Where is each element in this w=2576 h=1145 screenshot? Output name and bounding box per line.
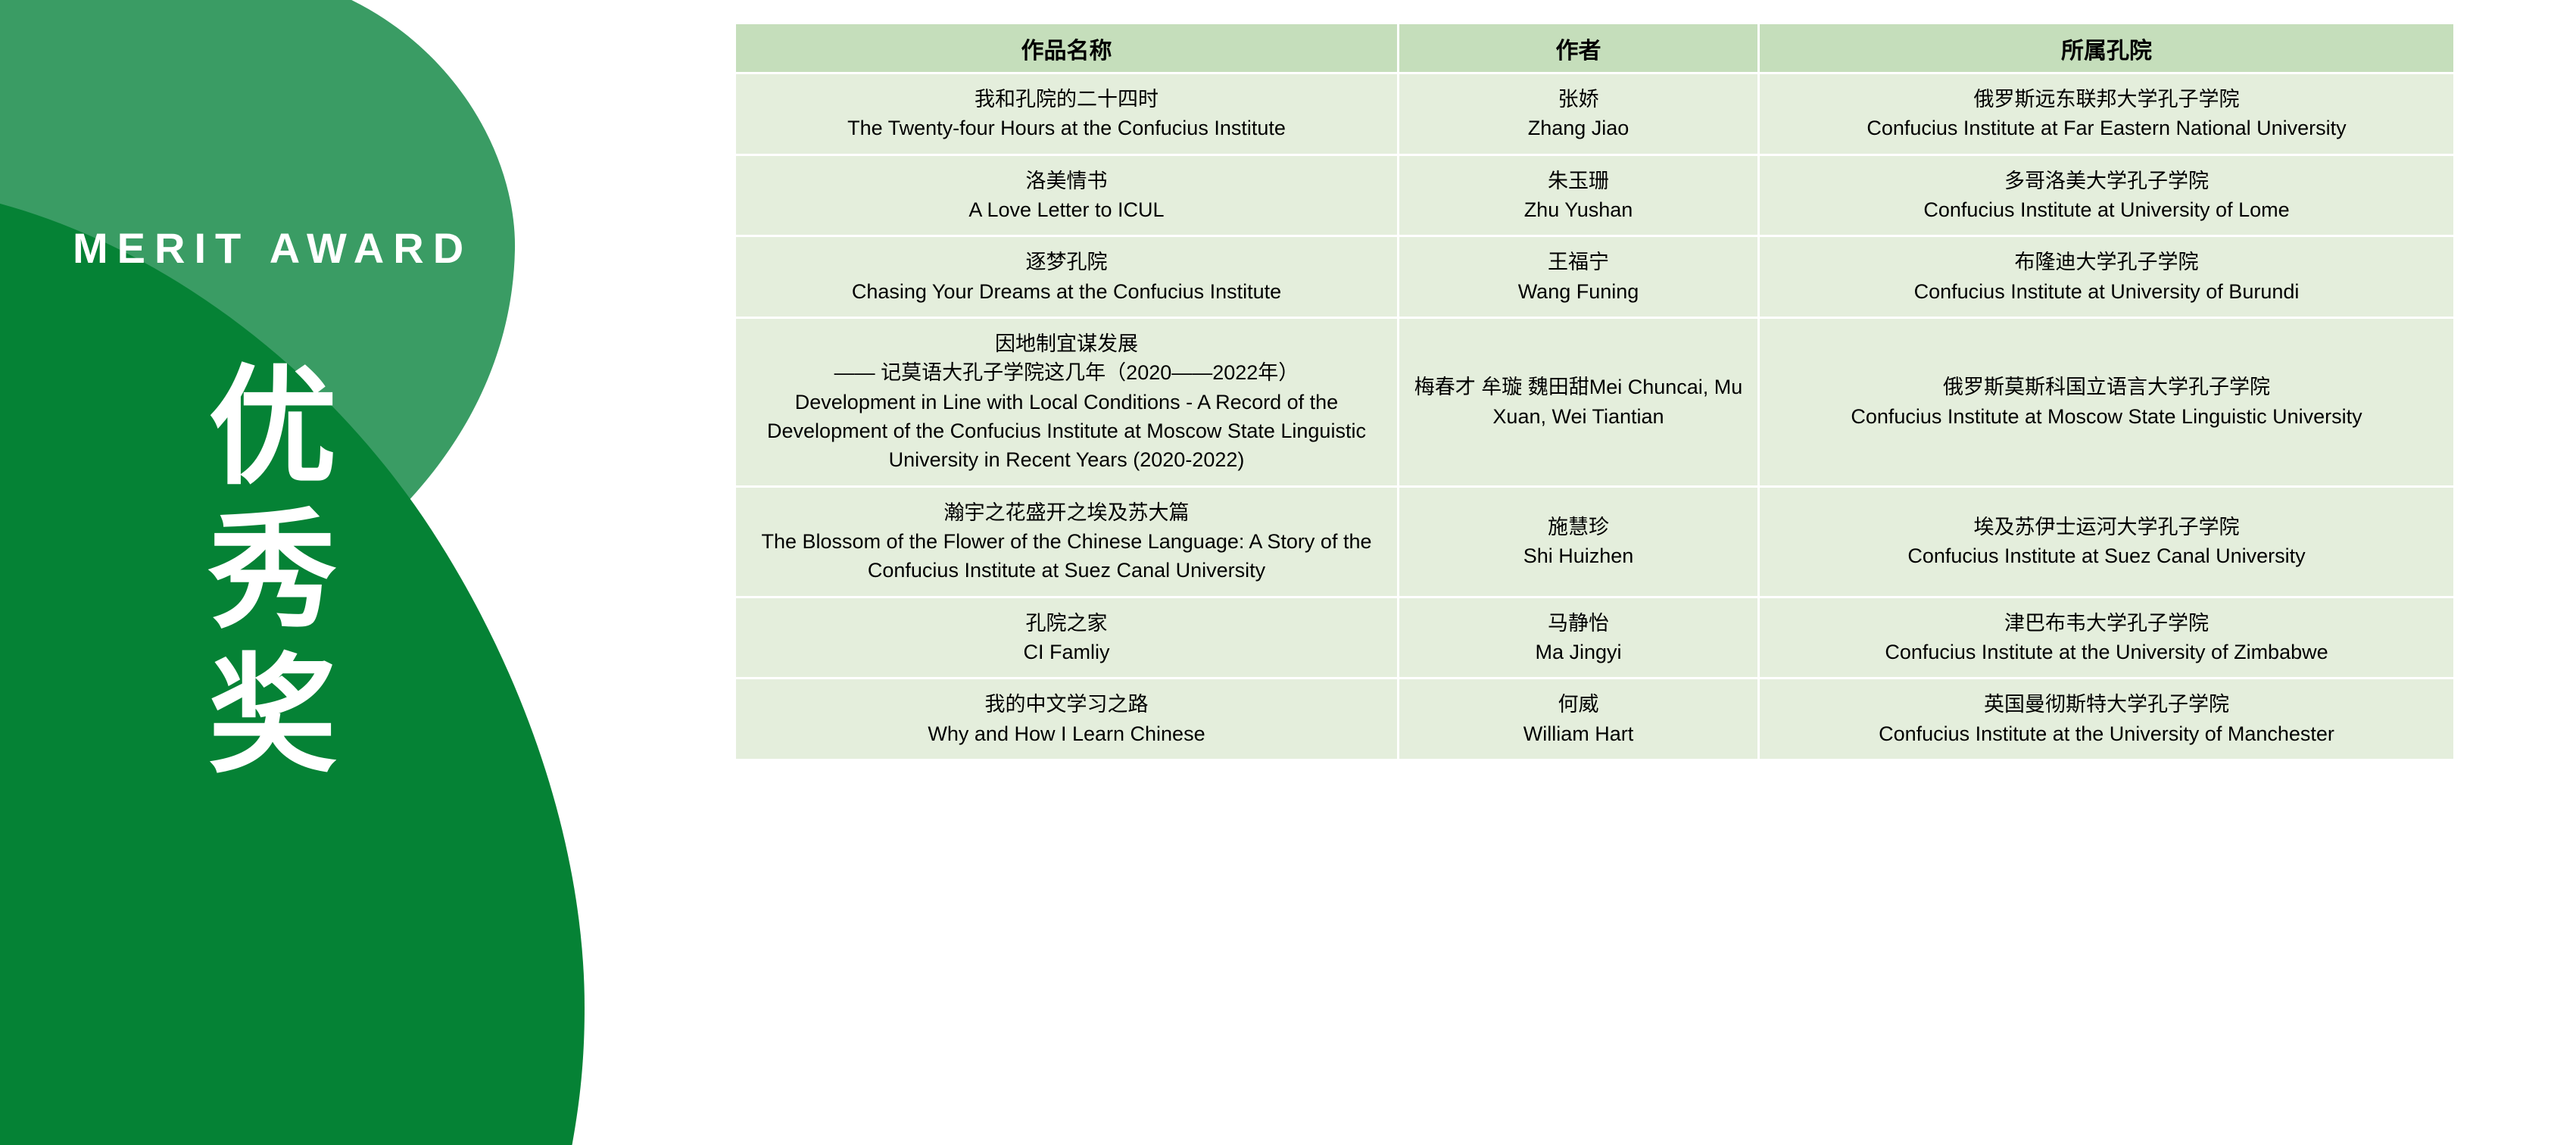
table-row: 孔院之家 CI Famliy 马静怡 Ma Jingyi 津巴布韦大学孔子学院 …: [736, 598, 2453, 680]
author-english: Zhang Jiao: [1411, 114, 1745, 142]
merit-award-banner: MERIT AWARD 优 秀 奖: [0, 0, 681, 1145]
cell-author: 王福宁 Wang Funing: [1399, 237, 1760, 319]
award-winners-table: 作品名称 作者 所属孔院 我和孔院的二十四时 The Twenty-four H…: [736, 24, 2453, 759]
title-english: CI Famliy: [748, 638, 1385, 666]
cell-author: 张娇 Zhang Jiao: [1399, 74, 1760, 156]
title-chinese: 因地制宜谋发展 —— 记莫语大孔子学院这几年（2020——2022年）: [748, 329, 1385, 388]
title-chinese: 孔院之家: [748, 609, 1385, 638]
cell-author: 梅春才 牟璇 魏田甜Mei Chuncai, Mu Xuan, Wei Tian…: [1399, 319, 1760, 488]
merit-award-chinese-title: 优 秀 奖: [182, 356, 363, 788]
cell-title: 因地制宜谋发展 —— 记莫语大孔子学院这几年（2020——2022年） Deve…: [736, 319, 1399, 488]
institute-chinese: 俄罗斯远东联邦大学孔子学院: [1772, 85, 2441, 114]
column-header-institute: 所属孔院: [1760, 24, 2453, 74]
cell-author: 朱玉珊 Zhu Yushan: [1399, 156, 1760, 238]
cell-title: 我和孔院的二十四时 The Twenty-four Hours at the C…: [736, 74, 1399, 156]
institute-chinese: 布隆迪大学孔子学院: [1772, 248, 2441, 276]
institute-english: Confucius Institute at University of Bur…: [1772, 277, 2441, 306]
table-row: 我的中文学习之路 Why and How I Learn Chinese 何威 …: [736, 679, 2453, 759]
chinese-char-2: 秀: [182, 500, 363, 644]
cell-institute: 多哥洛美大学孔子学院 Confucius Institute at Univer…: [1760, 156, 2453, 238]
cell-title: 瀚宇之花盛开之埃及苏大篇 The Blossom of the Flower o…: [736, 488, 1399, 598]
table-row: 我和孔院的二十四时 The Twenty-four Hours at the C…: [736, 74, 2453, 156]
cell-title: 洛美情书 A Love Letter to ICUL: [736, 156, 1399, 238]
institute-english: Confucius Institute at the University of…: [1772, 719, 2441, 748]
author-chinese: 张娇: [1411, 85, 1745, 114]
table-body: 我和孔院的二十四时 The Twenty-four Hours at the C…: [736, 74, 2453, 759]
institute-english: Confucius Institute at Moscow State Ling…: [1772, 402, 2441, 431]
cell-institute: 俄罗斯莫斯科国立语言大学孔子学院 Confucius Institute at …: [1760, 319, 2453, 488]
cell-author: 马静怡 Ma Jingyi: [1399, 598, 1760, 680]
cell-institute: 津巴布韦大学孔子学院 Confucius Institute at the Un…: [1760, 598, 2453, 680]
column-header-author: 作者: [1399, 24, 1760, 74]
author-chinese: 马静怡: [1411, 609, 1745, 638]
institute-chinese: 埃及苏伊士运河大学孔子学院: [1772, 513, 2441, 541]
table-header-row: 作品名称 作者 所属孔院: [736, 24, 2453, 74]
merit-award-english-title: MERIT AWARD: [73, 227, 497, 270]
institute-english: Confucius Institute at the University of…: [1772, 638, 2441, 666]
author-english: Wang Funing: [1411, 277, 1745, 306]
author-english: Ma Jingyi: [1411, 638, 1745, 666]
table-row: 逐梦孔院 Chasing Your Dreams at the Confuciu…: [736, 237, 2453, 319]
institute-english: Confucius Institute at Far Eastern Natio…: [1772, 114, 2441, 142]
title-chinese: 我的中文学习之路: [748, 690, 1385, 719]
title-chinese: 瀚宇之花盛开之埃及苏大篇: [748, 498, 1385, 527]
table-header: 作品名称 作者 所属孔院: [736, 24, 2453, 74]
table-row: 洛美情书 A Love Letter to ICUL 朱玉珊 Zhu Yusha…: [736, 156, 2453, 238]
cell-author: 何威 William Hart: [1399, 679, 1760, 759]
title-english: Chasing Your Dreams at the Confucius Ins…: [748, 277, 1385, 306]
title-chinese: 洛美情书: [748, 167, 1385, 195]
cell-institute: 布隆迪大学孔子学院 Confucius Institute at Univers…: [1760, 237, 2453, 319]
author-english: Shi Huizhen: [1411, 541, 1745, 570]
author-chinese: 王福宁: [1411, 248, 1745, 276]
title-chinese: 我和孔院的二十四时: [748, 85, 1385, 114]
institute-english: Confucius Institute at University of Lom…: [1772, 195, 2441, 224]
column-header-title: 作品名称: [736, 24, 1399, 74]
title-chinese: 逐梦孔院: [748, 248, 1385, 276]
cell-author: 施慧珍 Shi Huizhen: [1399, 488, 1760, 598]
institute-chinese: 多哥洛美大学孔子学院: [1772, 167, 2441, 195]
institute-chinese: 津巴布韦大学孔子学院: [1772, 609, 2441, 638]
title-english: A Love Letter to ICUL: [748, 195, 1385, 224]
cell-title: 孔院之家 CI Famliy: [736, 598, 1399, 680]
institute-chinese: 英国曼彻斯特大学孔子学院: [1772, 690, 2441, 719]
author-english: Zhu Yushan: [1411, 195, 1745, 224]
author-english: William Hart: [1411, 719, 1745, 748]
chinese-char-3: 奖: [182, 644, 363, 788]
title-english: The Twenty-four Hours at the Confucius I…: [748, 114, 1385, 142]
cell-institute: 埃及苏伊士运河大学孔子学院 Confucius Institute at Sue…: [1760, 488, 2453, 598]
author-chinese: 梅春才 牟璇 魏田甜Mei Chuncai, Mu Xuan, Wei Tian…: [1411, 373, 1745, 431]
cell-institute: 俄罗斯远东联邦大学孔子学院 Confucius Institute at Far…: [1760, 74, 2453, 156]
author-chinese: 何威: [1411, 690, 1745, 719]
institute-english: Confucius Institute at Suez Canal Univer…: [1772, 541, 2441, 570]
table-row: 瀚宇之花盛开之埃及苏大篇 The Blossom of the Flower o…: [736, 488, 2453, 598]
author-chinese: 施慧珍: [1411, 513, 1745, 541]
author-chinese: 朱玉珊: [1411, 167, 1745, 195]
title-english: The Blossom of the Flower of the Chinese…: [748, 527, 1385, 585]
title-english: Why and How I Learn Chinese: [748, 719, 1385, 748]
title-english: Development in Line with Local Condition…: [748, 388, 1385, 475]
table-row: 因地制宜谋发展 —— 记莫语大孔子学院这几年（2020——2022年） Deve…: [736, 319, 2453, 488]
chinese-char-1: 优: [182, 356, 363, 500]
institute-chinese: 俄罗斯莫斯科国立语言大学孔子学院: [1772, 373, 2441, 401]
cell-title: 我的中文学习之路 Why and How I Learn Chinese: [736, 679, 1399, 759]
cell-institute: 英国曼彻斯特大学孔子学院 Confucius Institute at the …: [1760, 679, 2453, 759]
cell-title: 逐梦孔院 Chasing Your Dreams at the Confuciu…: [736, 237, 1399, 319]
